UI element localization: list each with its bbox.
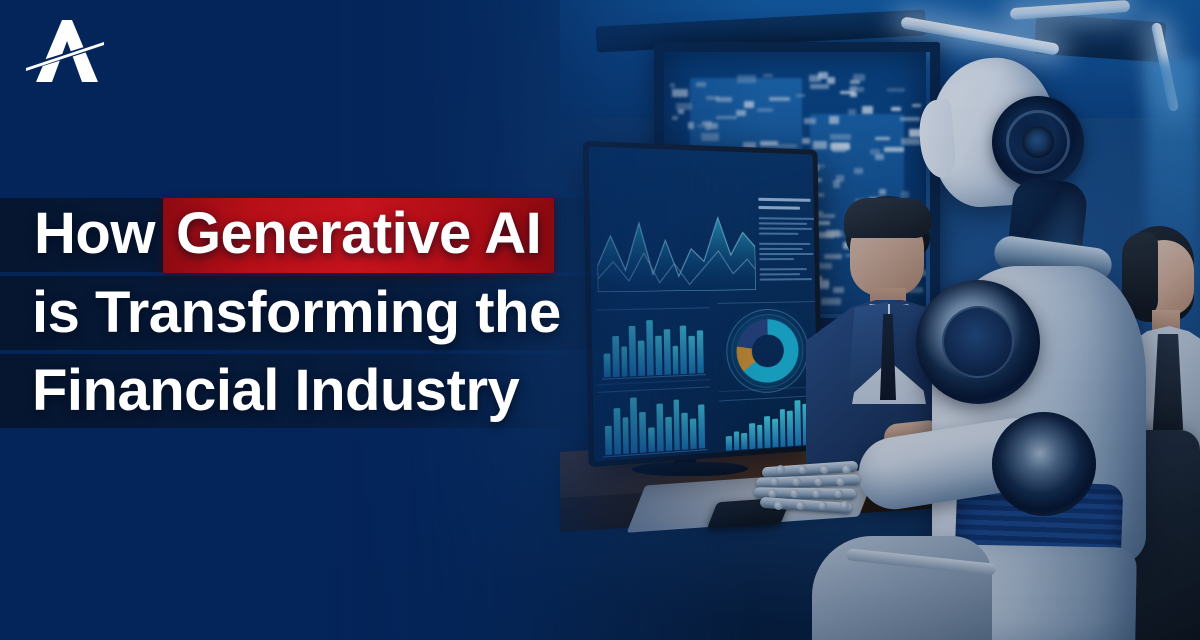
headline-prefix: How xyxy=(34,201,155,266)
headline-line-2-text: is Transforming the xyxy=(0,284,561,342)
headline-line-3: Financial Industry xyxy=(0,352,700,430)
article-hero-banner: HowGenerative AI is Transforming the Fin… xyxy=(0,0,1200,640)
headline-line-1-text: HowGenerative AI xyxy=(0,198,554,273)
page-title: HowGenerative AI is Transforming the Fin… xyxy=(0,196,700,430)
headline-line-1: HowGenerative AI xyxy=(0,196,700,274)
brand-logo[interactable] xyxy=(22,14,108,88)
headline-line-3-text: Financial Industry xyxy=(0,362,519,420)
headline-line-2: is Transforming the xyxy=(0,274,700,352)
headline-highlight-chip: Generative AI xyxy=(163,198,554,273)
